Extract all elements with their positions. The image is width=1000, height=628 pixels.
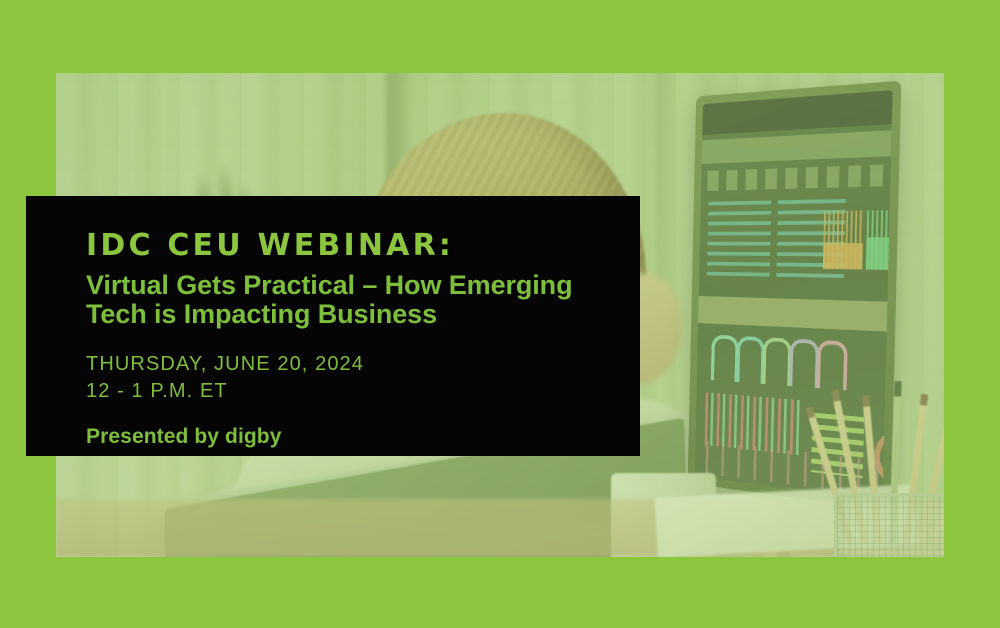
- text-panel: IDC CEU WEBINAR: Virtual Gets Practical …: [26, 196, 640, 456]
- dashboard-sparkline-amber: [823, 210, 864, 269]
- webinar-eyebrow: IDC CEU WEBINAR:: [86, 230, 640, 262]
- dashboard-strip: [702, 130, 892, 164]
- dashboard-ticks: [707, 164, 886, 191]
- webinar-date: THURSDAY, JUNE 20, 2024: [86, 351, 640, 378]
- webinar-time: 12 - 1 P.M. ET: [86, 378, 640, 405]
- presented-by: Presented by digby: [86, 425, 640, 449]
- pencil-cup: [834, 493, 944, 557]
- webinar-datetime: THURSDAY, JUNE 20, 2024 12 - 1 P.M. ET: [86, 351, 640, 405]
- dashboard-list-left: [707, 201, 772, 282]
- promo-canvas: IDC CEU WEBINAR: Virtual Gets Practical …: [0, 0, 1000, 628]
- dashboard-strip-lower: [698, 296, 887, 332]
- webinar-headline: Virtual Gets Practical – How Emerging Te…: [86, 271, 616, 329]
